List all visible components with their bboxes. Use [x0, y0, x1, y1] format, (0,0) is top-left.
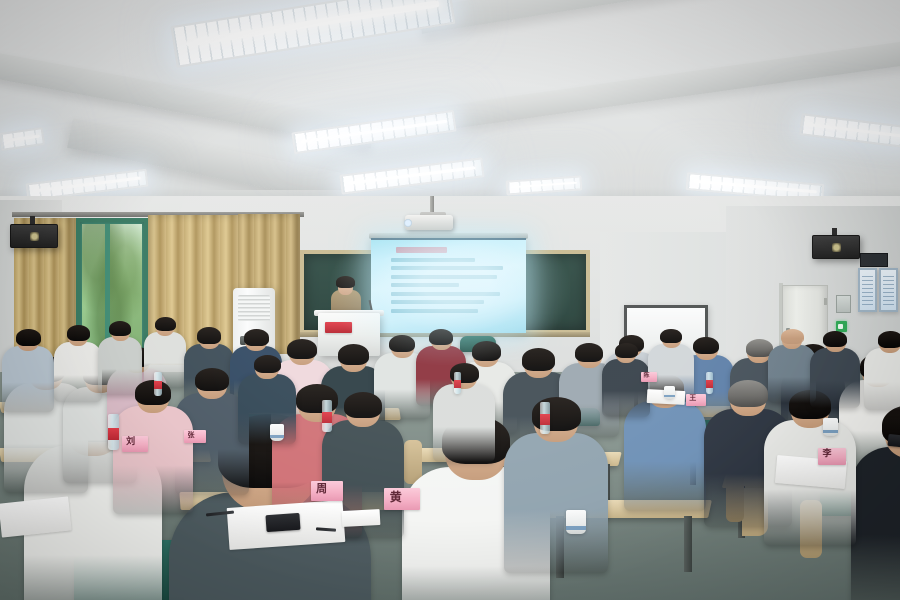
attendee-torso: [810, 348, 860, 408]
bottle-label: [540, 414, 550, 425]
attendee-hair: [532, 397, 581, 431]
undefined: [858, 268, 877, 312]
cup-band: [823, 430, 838, 433]
attendee-hair: [197, 327, 221, 344]
attendee-hair: [155, 317, 176, 331]
name-card-text: 张: [188, 432, 195, 439]
undefined: [879, 268, 898, 312]
slide-bullet-line: [391, 292, 500, 296]
slide-bullet-line: [391, 309, 478, 313]
attendee-hair: [522, 348, 555, 370]
bottle-label: [322, 412, 332, 423]
attendee-hair: [693, 337, 719, 355]
attendee-hair: [16, 329, 41, 346]
attendee-torso: [113, 406, 192, 514]
name-card-text: 刘: [126, 438, 135, 447]
attendee-hair: [195, 368, 229, 391]
speaker-bracket: [30, 216, 35, 224]
door-hinge: [824, 298, 827, 305]
name-card-r2[interactable]: 王: [686, 394, 706, 406]
attendee-torso: [602, 359, 650, 417]
attendee-hair: [135, 380, 171, 405]
wall-speaker-left: [10, 224, 58, 248]
water-bottle-4[interactable]: [154, 372, 162, 396]
water-bottle-1[interactable]: [108, 414, 119, 450]
attendee-hair: [878, 331, 900, 348]
podium-red-sign: [325, 322, 352, 333]
name-card-l2[interactable]: 张: [184, 430, 206, 443]
speaker-bracket: [832, 228, 837, 235]
attendee-hair: [254, 355, 281, 373]
presenter-hair: [336, 276, 355, 288]
attendee-hair: [575, 343, 603, 362]
wall-speaker-right: [812, 235, 860, 259]
name-card-text: 陈: [644, 373, 650, 379]
cup-band: [664, 395, 675, 397]
paper-cup-4[interactable]: [664, 386, 675, 399]
notice-text-lines: [862, 276, 873, 306]
name-card-l1[interactable]: 刘: [122, 436, 148, 452]
ceiling-projector: [405, 215, 453, 230]
cup-band: [566, 526, 586, 530]
paper-cup-1[interactable]: [270, 424, 284, 441]
slide-bullet-line: [391, 300, 484, 304]
attendee-torso: [504, 433, 607, 573]
attendee-hair: [823, 331, 847, 347]
attendee-26: [500, 400, 612, 540]
attendee-hair: [67, 325, 90, 341]
attendee-hair: [338, 344, 369, 365]
attendee-06: [0, 330, 56, 396]
wall-plaque: [860, 253, 888, 267]
bottle-label: [154, 381, 162, 389]
cup-band: [270, 435, 284, 438]
name-card-text: 王: [689, 395, 696, 402]
ac-grille: [238, 295, 270, 321]
slide-bullet-line: [391, 258, 475, 262]
speaker-cone-icon: [30, 232, 39, 241]
attendee-hair: [389, 335, 415, 353]
water-bottle-6[interactable]: [454, 372, 461, 394]
attendee-torso: [624, 401, 707, 511]
attendee-40: [430, 364, 498, 442]
attendee-38: [862, 332, 900, 394]
attendee-hair: [429, 329, 453, 345]
attendee-torso: [2, 346, 54, 412]
attendee-hair: [615, 343, 638, 358]
name-card-zhou[interactable]: 周: [311, 481, 343, 501]
name-card-text: 李: [822, 450, 831, 459]
desk-leg: [684, 516, 692, 572]
attendee-hair: [344, 392, 382, 418]
slide-title-bar: [396, 247, 447, 253]
attendee-torso: [54, 342, 102, 402]
smartphone-1[interactable]: [265, 513, 300, 532]
water-bottle-2[interactable]: [322, 400, 332, 432]
name-card-huang[interactable]: 黄: [384, 488, 420, 510]
water-bottle-5[interactable]: [706, 372, 713, 394]
paper-cup-2[interactable]: [566, 510, 586, 534]
attendee-hair: [781, 329, 804, 344]
attendee-hair: [109, 321, 131, 336]
attendee-39: [236, 356, 298, 426]
name-card-text: 周: [316, 483, 327, 494]
name-card-text: 黄: [390, 491, 402, 503]
attendee-hair: [244, 329, 269, 346]
name-card-r3[interactable]: 陈: [641, 372, 657, 382]
speaker-cone-icon: [832, 243, 841, 252]
bottle-label: [454, 380, 461, 387]
wall-small-frame: [836, 295, 851, 313]
name-card-r1[interactable]: 李: [818, 448, 846, 465]
attendee-37: [808, 332, 862, 392]
projector-lens-icon: [404, 219, 412, 227]
attendee-torso: [864, 348, 900, 410]
attendee-torso: [238, 374, 295, 444]
slide-bullet-line: [391, 266, 503, 270]
slide-bullet-line: [391, 283, 459, 287]
attendee-torso: [433, 384, 496, 462]
smartphone-2[interactable]: [887, 434, 900, 448]
projection-screen: [371, 238, 526, 333]
classroom-photo: 周黄李王陈刘张: [0, 0, 900, 600]
slide-bullet-line: [391, 275, 496, 279]
paper-cup-3[interactable]: [823, 418, 838, 436]
papers-5[interactable]: [342, 509, 381, 527]
attendee-hair: [660, 329, 682, 343]
attendee-08: [96, 322, 144, 380]
attendee-hair: [472, 341, 501, 361]
notice-text-lines: [883, 276, 894, 306]
bottle-label: [108, 428, 119, 440]
water-bottle-3[interactable]: [540, 402, 550, 434]
bottle-label: [706, 380, 713, 387]
